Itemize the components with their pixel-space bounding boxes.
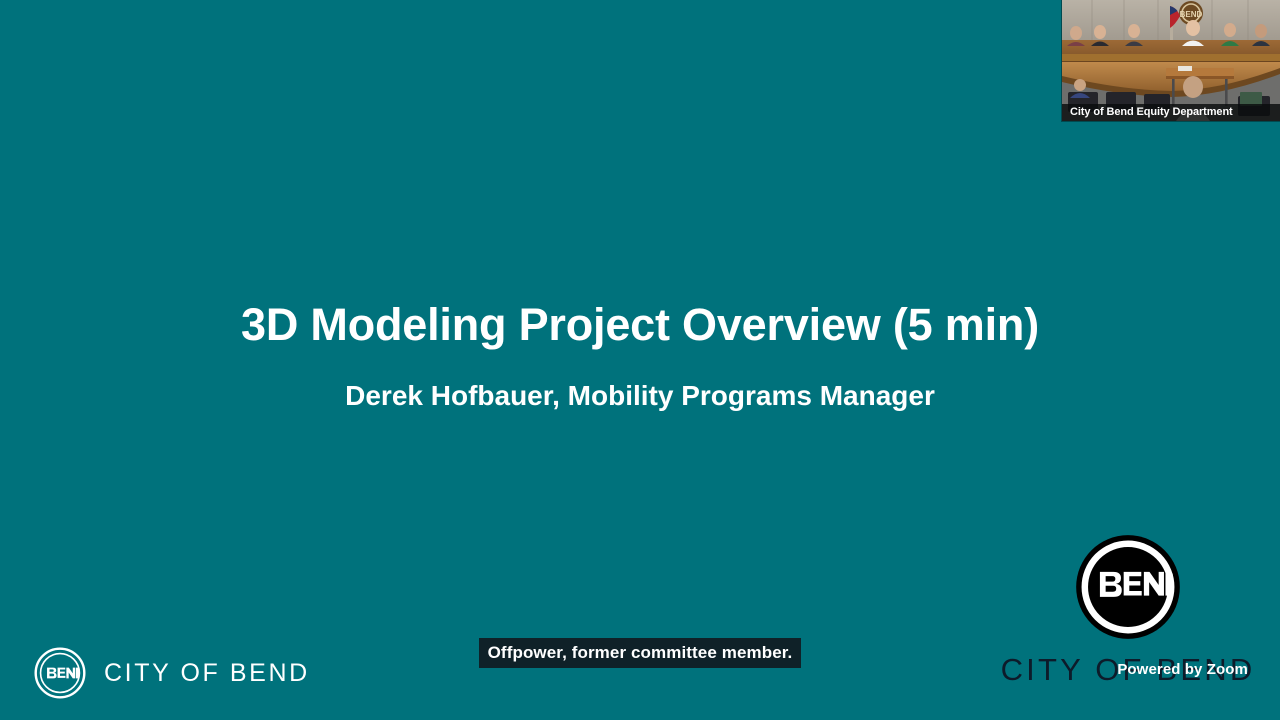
participant-name-label: City of Bend Equity Department (1062, 107, 1233, 118)
participant-video-thumbnail[interactable]: BEND (1062, 0, 1280, 121)
slide-title-block: 3D Modeling Project Overview (5 min) Der… (0, 300, 1280, 411)
zoom-shared-screen: 3D Modeling Project Overview (5 min) Der… (0, 0, 1280, 720)
city-of-bend-wordmark-left: CITY OF BEND (104, 661, 310, 686)
bend-emblem-icon (33, 646, 87, 700)
powered-by-zoom-label: Powered by Zoom (1117, 661, 1248, 678)
slide-title: 3D Modeling Project Overview (5 min) (0, 300, 1280, 350)
slide-subtitle: Derek Hofbauer, Mobility Programs Manage… (0, 350, 1280, 412)
svg-text:BEND: BEND (1180, 10, 1203, 19)
bend-emblem-wrapper (998, 533, 1258, 641)
participant-name-bar: City of Bend Equity Department (1062, 104, 1280, 121)
city-of-bend-logo-left: CITY OF BEND (33, 646, 310, 700)
bend-emblem-icon (1074, 533, 1182, 641)
participant-video-feed: BEND (1062, 0, 1280, 121)
